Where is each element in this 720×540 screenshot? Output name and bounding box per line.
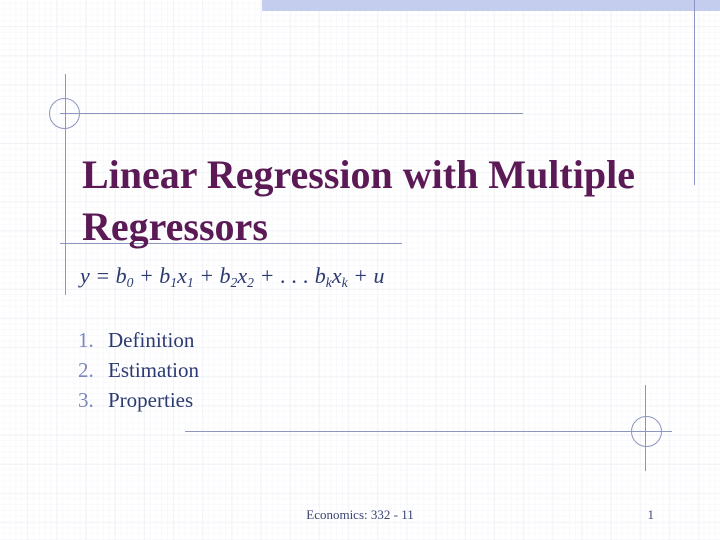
equation-var-x2: x [237, 263, 247, 288]
list-item: 2. Estimation [78, 358, 199, 388]
slide-canvas: Linear Regression with Multiple Regresso… [0, 0, 720, 540]
outline-list: 1. Definition 2. Estimation 3. Propertie… [78, 328, 199, 418]
equation-var-x1: x [177, 263, 187, 288]
equation-term-b1: b [159, 263, 170, 288]
divider-line-top [60, 113, 523, 114]
list-item: 1. Definition [78, 328, 199, 358]
decorative-circle-bottom-right [631, 416, 662, 447]
equation-op-2: + [194, 263, 220, 288]
list-item-label: Properties [108, 388, 193, 413]
footer-page-number: 1 [648, 507, 655, 523]
equation-lhs: y [80, 263, 90, 288]
decorative-circle-top-left [49, 98, 80, 129]
vertical-rule-top-right [694, 0, 695, 185]
top-accent-band [262, 0, 720, 11]
slide-title: Linear Regression with Multiple Regresso… [82, 149, 682, 253]
equation-varsub-1: 1 [187, 275, 194, 290]
list-item: 3. Properties [78, 388, 199, 418]
equation-var-xk: x [332, 263, 342, 288]
equation-op-4: + [348, 263, 374, 288]
list-item-label: Estimation [108, 358, 199, 383]
divider-line-bottom [185, 431, 672, 432]
equation-op-1: + [133, 263, 159, 288]
equation-varsub-2: 2 [247, 275, 254, 290]
equation-term-b0: b [116, 263, 127, 288]
footer-course-label: Economics: 332 - 11 [0, 507, 720, 523]
list-item-number: 2. [78, 358, 108, 383]
list-item-number: 1. [78, 328, 108, 353]
equation-term-bk: b [315, 263, 326, 288]
equation-equals: = [90, 263, 116, 288]
equation-ellipsis: + . . . [254, 263, 315, 288]
regression-equation: y = b0 + b1x1 + b2x2 + . . . bkxk + u [80, 262, 385, 290]
equation-error-u: u [374, 263, 385, 288]
list-item-number: 3. [78, 388, 108, 413]
equation-term-b2: b [220, 263, 231, 288]
list-item-label: Definition [108, 328, 194, 353]
